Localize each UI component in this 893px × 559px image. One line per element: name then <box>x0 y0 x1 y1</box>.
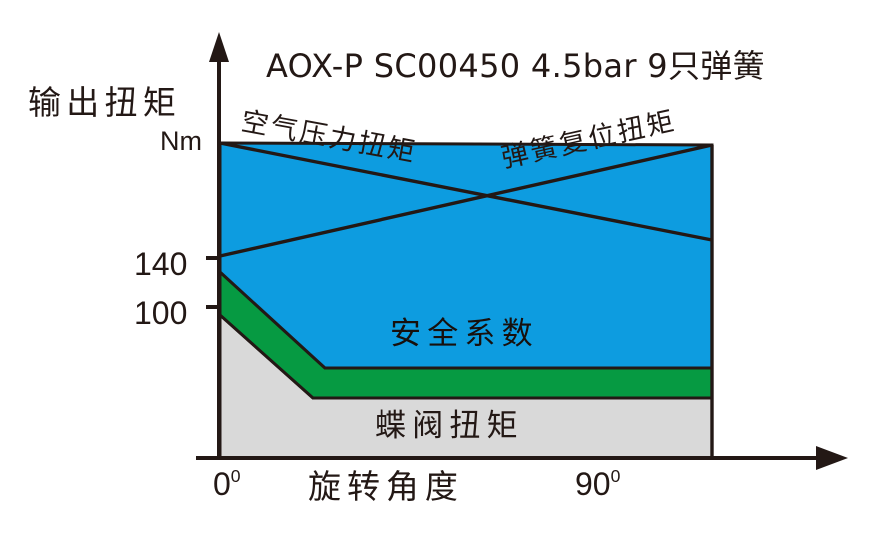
x-axis-arrow <box>816 446 848 470</box>
safety-factor-label: 安全系数 <box>390 319 539 350</box>
y-axis-unit: Nm <box>160 128 202 155</box>
x-tick-end-value: 90 <box>575 466 611 502</box>
y-axis-label: 输出扭矩 <box>28 86 181 119</box>
degree-sign-icon: 0 <box>231 466 241 486</box>
x-axis-label: 旋转角度 <box>308 470 464 503</box>
chart-figure: AOX-P SC00450 4.5bar 9只弹簧 输出扭矩 Nm 140 10… <box>0 0 893 559</box>
x-tick-label-end: 900 <box>575 468 620 500</box>
x-tick-start-value: 0 <box>213 466 231 502</box>
chart-title: AOX-P SC00450 4.5bar 9只弹簧 <box>266 50 765 82</box>
valve-torque-label: 蝶阀扭矩 <box>375 411 524 442</box>
y-axis-arrow <box>209 32 229 62</box>
x-tick-label-start: 00 <box>213 468 241 500</box>
y-tick-label-140: 140 <box>134 248 187 280</box>
degree-sign-icon: 0 <box>611 466 621 486</box>
y-tick-label-100: 100 <box>134 297 187 329</box>
